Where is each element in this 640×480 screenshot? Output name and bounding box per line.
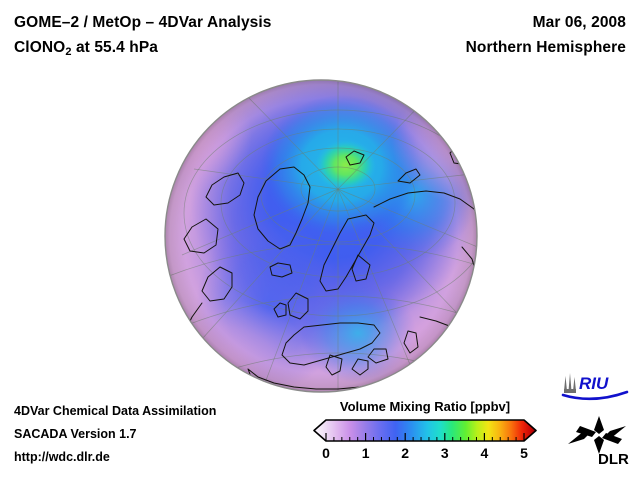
colorbar-tick-labels: 012345 <box>312 445 538 465</box>
species-name: ClONO <box>14 39 65 56</box>
colorbar-tick-label: 5 <box>520 445 528 461</box>
globe-svg <box>162 77 480 395</box>
colorbar-tick-label: 3 <box>441 445 449 461</box>
page-title: GOME–2 / MetOp – 4DVar Analysis <box>14 10 272 35</box>
colorbar-tick-label: 1 <box>362 445 370 461</box>
colorbar-title: Volume Mixing Ratio [ppbv] <box>312 399 538 414</box>
footer-line-1: 4DVar Chemical Data Assimilation <box>14 400 216 423</box>
globe-limb-shading <box>165 80 477 392</box>
visualization-page: GOME–2 / MetOp – 4DVar Analysis ClONO2 a… <box>0 0 640 480</box>
footer-line-2: SACADA Version 1.7 <box>14 423 137 446</box>
header-right: Mar 06, 2008 Northern Hemisphere <box>466 10 626 60</box>
dlr-pinwheel-icon <box>568 416 626 454</box>
riu-logo: RIU <box>559 369 631 410</box>
colorbar-tick-label: 0 <box>322 445 330 461</box>
riu-wordmark: RIU <box>579 374 609 393</box>
colorbar-tick-label: 2 <box>401 445 409 461</box>
species-level-label: ClONO2 at 55.4 hPa <box>14 35 272 65</box>
dlr-logo-svg: DLR <box>566 414 632 466</box>
region-label: Northern Hemisphere <box>466 35 626 60</box>
colorbar-swatch <box>312 418 538 444</box>
header-left: GOME–2 / MetOp – 4DVar Analysis ClONO2 a… <box>14 10 272 65</box>
globe-map <box>162 77 480 395</box>
footer-line-3[interactable]: http://wdc.dlr.de <box>14 446 110 469</box>
riu-towers-icon <box>564 373 576 393</box>
riu-logo-svg: RIU <box>559 369 631 405</box>
dlr-logo: DLR <box>566 414 632 471</box>
colorbar-gradient <box>312 418 538 444</box>
date-label: Mar 06, 2008 <box>466 10 626 35</box>
dlr-wordmark: DLR <box>598 451 629 466</box>
colorbar-tick-label: 4 <box>480 445 488 461</box>
colorbar: Volume Mixing Ratio [ppbv] 012345 <box>312 399 538 465</box>
riu-swoosh-icon <box>563 392 627 399</box>
coast-arabia <box>412 357 448 377</box>
pressure-level: at 55.4 hPa <box>72 39 159 56</box>
